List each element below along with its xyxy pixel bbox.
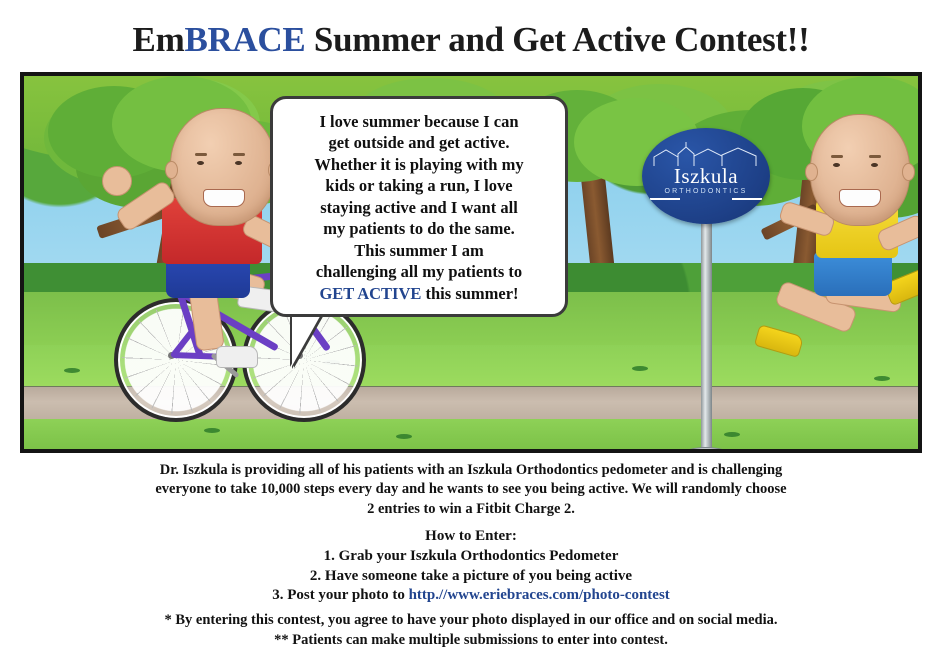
cyclist-ear-left (165, 161, 178, 179)
blurb-line-2: everyone to take 10,000 steps every day … (26, 480, 916, 499)
title-suffix: Summer and Get Active Contest!! (305, 20, 809, 59)
contest-footnotes: * By entering this contest, you agree to… (26, 611, 916, 650)
bubble-line-6: my patients to do the same. (285, 218, 553, 239)
how-to-enter-section: How to Enter: 1. Grab your Iszkula Ortho… (26, 527, 916, 606)
step-3-prefix: 3. Post your photo to (272, 587, 408, 603)
bubble-line-9: GET ACTIVE this summer! (285, 283, 553, 304)
grass-tuft (64, 368, 80, 373)
grass-tuft (396, 434, 412, 439)
cyclist-brow-left (195, 153, 207, 156)
bubble-line-2: get outside and get active. (285, 132, 553, 153)
footnote-1: * By entering this contest, you agree to… (26, 611, 916, 631)
how-to-enter-heading: How to Enter: (26, 527, 916, 547)
photo-contest-link[interactable]: http.//www.eriebraces.com/photo-contest (409, 587, 670, 603)
speech-bubble: I love summer because I can get outside … (270, 96, 568, 317)
cyclist-head (170, 108, 276, 226)
sign-rule-left (650, 198, 680, 200)
bubble-line-4: kids or taking a run, I love (285, 175, 553, 196)
how-to-enter-step-1: 1. Grab your Iszkula Orthodontics Pedome… (26, 547, 916, 567)
runner-eye-left (833, 163, 840, 167)
blurb-line-1: Dr. Iszkula is providing all of his pati… (26, 461, 916, 480)
bubble-line-8: challenging all my patients to (285, 261, 553, 282)
get-active-highlight: GET ACTIVE (319, 284, 421, 303)
runner-ear-right (902, 163, 915, 181)
runner-shorts (814, 252, 892, 296)
park-scene: Iszkula ORTHODONTICS (24, 76, 918, 449)
sign-face: Iszkula ORTHODONTICS (642, 128, 770, 224)
cyclist-eye-right (235, 161, 242, 165)
runner-eye-right (871, 163, 878, 167)
runner-mouth (839, 189, 881, 207)
bubble-line-7: This summer I am (285, 240, 553, 261)
sign-pole (701, 220, 712, 449)
bubble-line-3: Whether it is playing with my (285, 154, 553, 175)
bubble-line-5: staying active and I want all (285, 197, 553, 218)
sign-rule-right (732, 198, 762, 200)
cyclist-shoe-rear (216, 346, 258, 368)
sign-base (682, 447, 730, 449)
blurb-line-3: 2 entries to win a Fitbit Charge 2. (26, 500, 916, 519)
footnote-2: ** Patients can make multiple submission… (26, 631, 916, 651)
illustration-frame: Iszkula ORTHODONTICS (20, 72, 922, 453)
cyclist-hand-waving (102, 166, 132, 196)
runner-brow-left (831, 155, 843, 158)
title-accent: BRACE (184, 20, 305, 59)
runner-caricature (774, 114, 918, 414)
page-title: EmBRACE Summer and Get Active Contest!! (0, 20, 942, 60)
cyclist-mouth (203, 189, 245, 207)
bubble-line-9-tail: this summer! (421, 284, 518, 303)
runner-ear-left (805, 163, 818, 181)
runner-head (810, 114, 910, 226)
cyclist-brow-right (233, 153, 245, 156)
title-prefix: Em (133, 20, 185, 59)
contest-description: Dr. Iszkula is providing all of his pati… (26, 461, 916, 519)
how-to-enter-step-3: 3. Post your photo to http.//www.eriebra… (26, 586, 916, 606)
sign-brand-subtitle: ORTHODONTICS (642, 188, 770, 195)
iszkula-orthodontics-sign: Iszkula ORTHODONTICS (636, 128, 776, 449)
bubble-line-1: I love summer because I can (285, 111, 553, 132)
cyclist-eye-left (197, 161, 204, 165)
runner-brow-right (869, 155, 881, 158)
how-to-enter-step-2: 2. Have someone take a picture of you be… (26, 567, 916, 587)
sign-brand-name: Iszkula (642, 166, 770, 187)
